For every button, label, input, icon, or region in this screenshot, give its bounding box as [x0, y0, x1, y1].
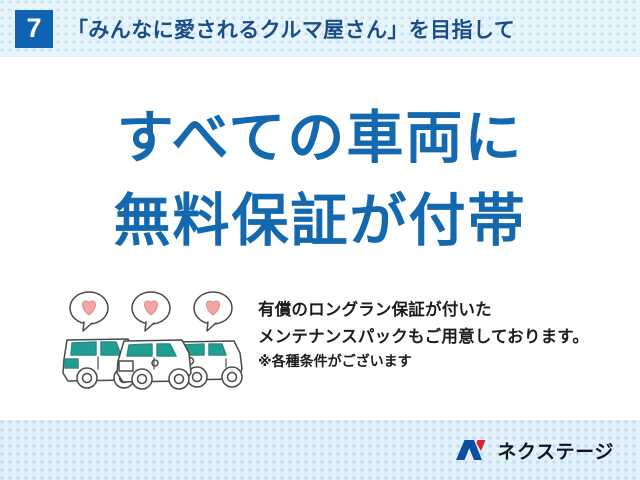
note-block: 有償のロングラン保証が付いた メンテナンスパックもご用意しております。 ※各種条…	[258, 297, 626, 373]
cars-illustration-svg	[56, 289, 246, 394]
headline-line-2: 無料保証が付帯	[0, 184, 640, 259]
header-bar: 7 「みんなに愛されるクルマ屋さん」を目指して	[0, 0, 640, 57]
brand-logo-text: ネクステージ	[497, 437, 614, 464]
brand-logo: ネクステージ	[455, 437, 614, 464]
content-area: すべての車両に 無料保証が付帯	[0, 57, 640, 420]
car-minivan	[117, 340, 191, 389]
heart-bubble-3	[194, 292, 232, 331]
note-line-2: メンテナンスパックもご用意しております。	[258, 324, 626, 351]
heart-bubble-2	[132, 292, 170, 331]
heart-bubble-1	[70, 292, 108, 331]
note-line-3: ※各種条件がございます	[258, 350, 626, 373]
note-line-1: 有償のロングラン保証が付いた	[258, 297, 626, 324]
nexstage-n-logo-icon	[455, 438, 489, 462]
headline-line-1: すべての車両に	[0, 101, 640, 176]
promo-slide: 7 「みんなに愛されるクルマ屋さん」を目指して すべての車両に 無料保証が付帯	[0, 0, 640, 480]
section-number-badge: 7	[15, 10, 53, 48]
cars-illustration	[56, 289, 246, 394]
illustration-and-note-row: 有償のロングラン保証が付いた メンテナンスパックもご用意しております。 ※各種条…	[0, 289, 640, 409]
header-title: 「みんなに愛されるクルマ屋さん」を目指して	[67, 14, 515, 44]
footer-bar: ネクステージ	[0, 420, 640, 480]
